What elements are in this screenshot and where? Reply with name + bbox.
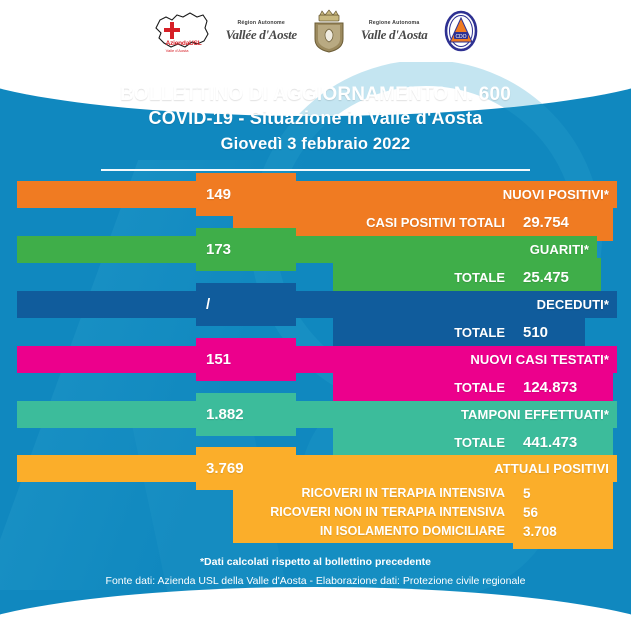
attuali-positivi-value: 3.769 [206, 460, 244, 477]
breakdown-labels: RICOVERI IN TERAPIA INTENSIVA RICOVERI N… [233, 481, 513, 543]
regione-autonoma-logo: Regione Autonoma Valle d'Aosta [361, 21, 428, 40]
usl-logo-text: AziendaUSL [166, 40, 202, 47]
footer-source: Fonte dati: Azienda USL della Valle d'Ao… [0, 575, 631, 587]
metric-guariti: GUARITI* 173 TOTALE 25.475 [0, 236, 631, 292]
usl-logo-subtext: Valle d'Aosta [166, 48, 189, 53]
deceduti-label: DECEDUTI* [537, 297, 609, 312]
deceduti-value: / [206, 296, 210, 313]
title-divider [101, 169, 530, 171]
guariti-value-box: 173 [196, 228, 296, 271]
casi-positivi-totali-value: 29.754 [523, 214, 569, 231]
attuali-positivi-breakdown: RICOVERI IN TERAPIA INTENSIVA RICOVERI N… [233, 481, 613, 543]
logo-band: AziendaUSL Valle d'Aosta Région Autonome… [0, 0, 631, 62]
tamponi-effettuati-totale-row: TOTALE [333, 427, 513, 457]
tamponi-effettuati-totale-value: 441.473 [523, 434, 577, 451]
azienda-usl-logo: AziendaUSL Valle d'Aosta [150, 8, 212, 54]
svg-text:CDO: CDO [456, 34, 467, 40]
nuovi-casi-testati-value: 151 [206, 351, 231, 368]
regione-autonoma-small-text: Regione Autonoma [361, 21, 428, 26]
guariti-totale-value: 25.475 [523, 269, 569, 286]
protezione-civile-icon: CDO [441, 9, 481, 53]
guariti-bar: GUARITI* [17, 236, 597, 263]
guariti-totale-label: TOTALE [454, 270, 505, 285]
page-title: BOLLETTINO DI AGGIORNAMENTO N. 600 [0, 84, 631, 106]
breakdown-label-non-terapia-intensiva: RICOVERI NON IN TERAPIA INTENSIVA [233, 503, 513, 522]
infographic-page: AziendaUSL Valle d'Aosta Région Autonome… [0, 0, 631, 635]
page-subtitle: COVID-19 - Situazione in Valle d'Aosta [0, 108, 631, 129]
breakdown-values: 5 56 3.708 [513, 475, 613, 549]
metric-attuali-positivi: ATTUALI POSITIVI 3.769 RICOVERI IN TERAP… [0, 455, 631, 545]
casi-positivi-totali-label: CASI POSITIVI TOTALI [366, 215, 505, 230]
nuovi-casi-testati-label: NUOVI CASI TESTATI* [470, 352, 609, 367]
title-block: BOLLETTINO DI AGGIORNAMENTO N. 600 COVID… [0, 84, 631, 154]
tamponi-effettuati-value-box: 1.882 [196, 393, 296, 436]
nuovi-positivi-label: NUOVI POSITIVI* [503, 187, 609, 202]
nuovi-casi-testati-totale-value: 124.873 [523, 379, 577, 396]
nuovi-casi-testati-totale-row: TOTALE [333, 372, 513, 402]
region-autonome-small-text: Région Autonome [226, 21, 297, 26]
breakdown-value-non-terapia-intensiva: 56 [523, 503, 613, 522]
footer-block: *Dati calcolati rispetto al bollettino p… [0, 556, 631, 587]
guariti-label: GUARITI* [530, 242, 589, 257]
region-autonome-big-text: Vallée d'Aoste [226, 28, 297, 41]
deceduti-totale-label: TOTALE [454, 325, 505, 340]
metric-nuovi-casi-testati: NUOVI CASI TESTATI* 151 TOTALE 124.873 [0, 346, 631, 402]
footer-note: *Dati calcolati rispetto al bollettino p… [0, 556, 631, 568]
valle-aosta-coat-of-arms-icon [311, 9, 347, 53]
deceduti-value-box: / [196, 283, 296, 326]
region-autonome-logo: Région Autonome Vallée d'Aoste [226, 21, 297, 40]
breakdown-label-terapia-intensiva: RICOVERI IN TERAPIA INTENSIVA [233, 484, 513, 503]
metric-deceduti: DECEDUTI* / TOTALE 510 [0, 291, 631, 347]
nuovi-casi-testati-value-box: 151 [196, 338, 296, 381]
tamponi-effettuati-label: TAMPONI EFFETTUATI* [461, 407, 609, 422]
deceduti-totale-value: 510 [523, 324, 548, 341]
guariti-totale-row: TOTALE [333, 262, 513, 292]
tamponi-effettuati-totale-label: TOTALE [454, 435, 505, 450]
attuali-positivi-label: ATTUALI POSITIVI [494, 461, 609, 476]
breakdown-label-isolamento-domiciliare: IN ISOLAMENTO DOMICILIARE [233, 522, 513, 541]
deceduti-totale-row: TOTALE [333, 317, 513, 347]
metric-nuovi-positivi: NUOVI POSITIVI* 149 CASI POSITIVI TOTALI… [0, 181, 631, 237]
red-cross-icon [162, 21, 182, 41]
breakdown-value-isolamento-domiciliare: 3.708 [523, 522, 613, 541]
tamponi-effettuati-value: 1.882 [206, 406, 244, 423]
nuovi-casi-testati-totale-label: TOTALE [454, 380, 505, 395]
metric-tamponi-effettuati: TAMPONI EFFETTUATI* 1.882 TOTALE 441.473 [0, 401, 631, 457]
breakdown-value-terapia-intensiva: 5 [523, 484, 613, 503]
guariti-value: 173 [206, 241, 231, 258]
page-date: Giovedì 3 febbraio 2022 [0, 135, 631, 154]
nuovi-positivi-value: 149 [206, 186, 231, 203]
regione-autonoma-big-text: Valle d'Aosta [361, 28, 428, 41]
